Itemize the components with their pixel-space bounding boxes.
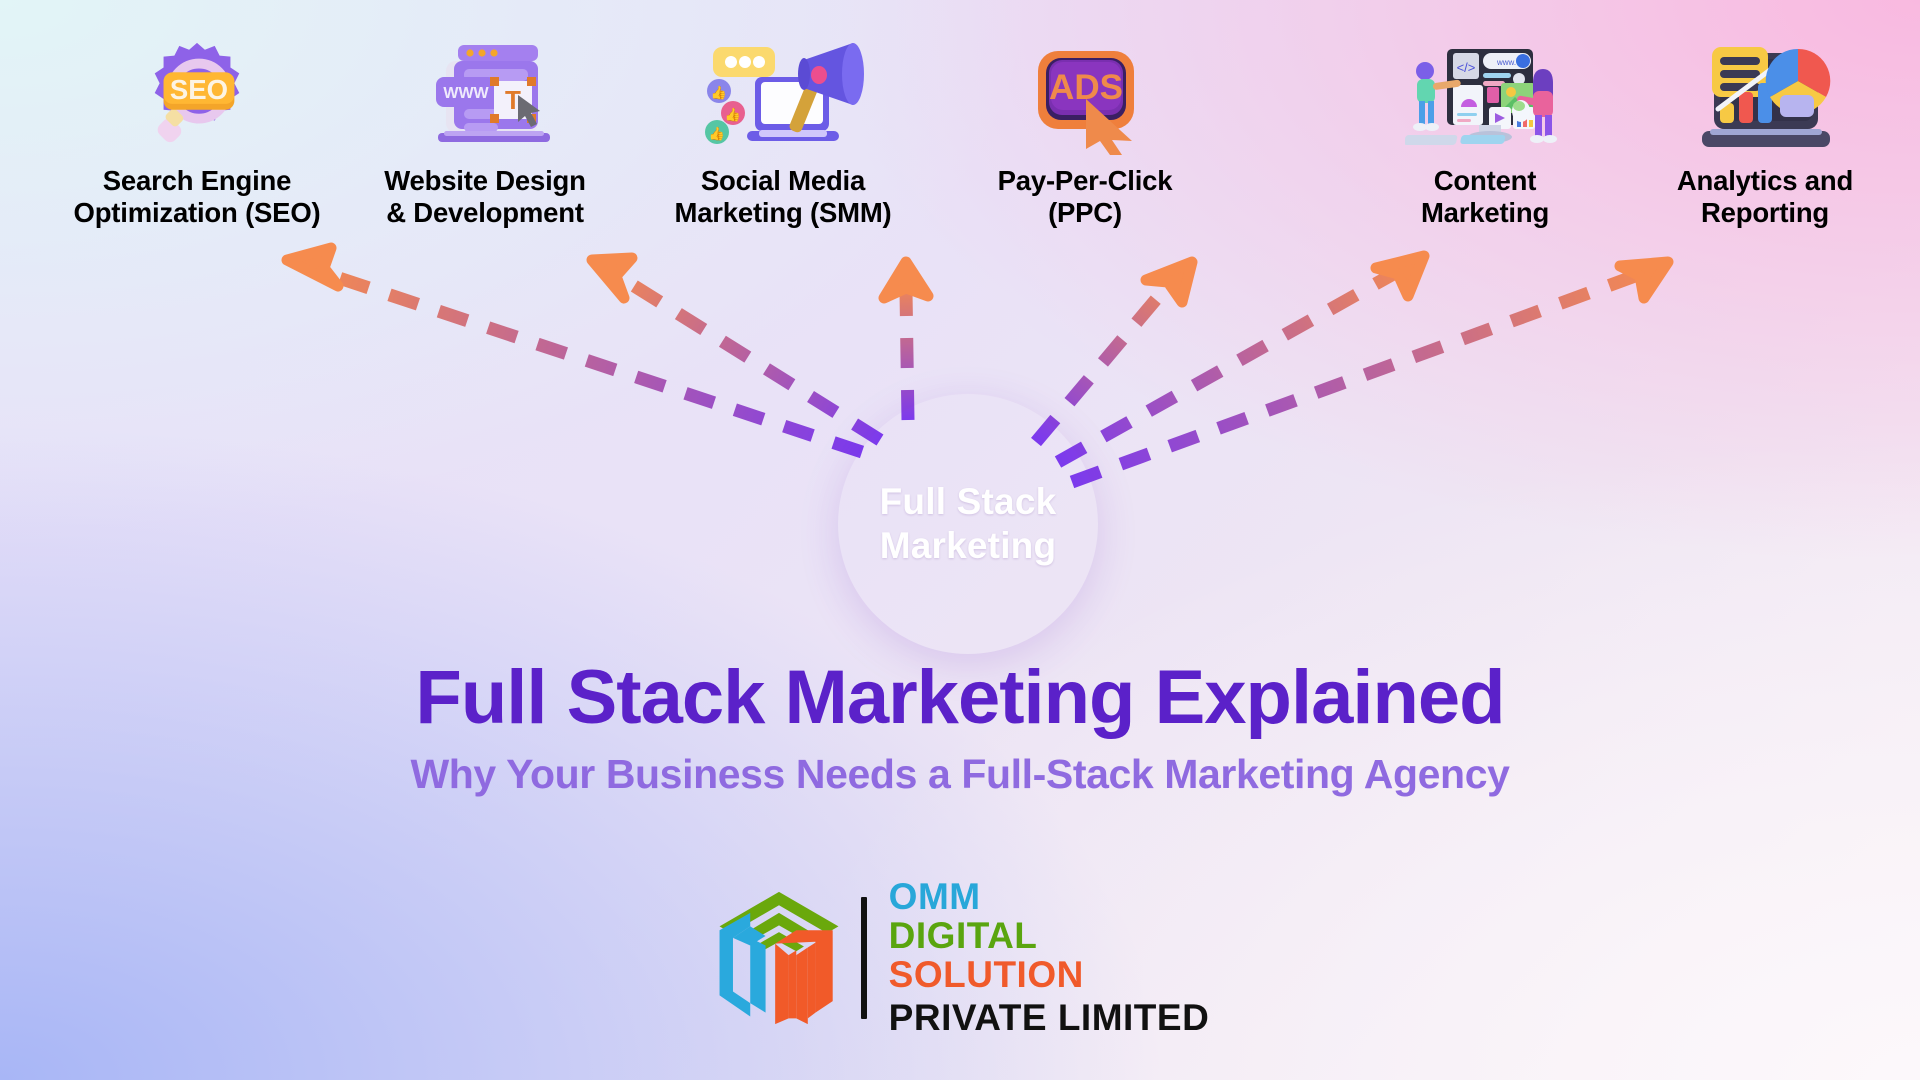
ads-cursor-icon: ADS: [960, 35, 1210, 155]
hub-circle-full-stack-marketing: Full Stack Marketing: [838, 394, 1098, 654]
laptop-www-design-icon: WWW T: [360, 35, 610, 155]
logo-word-digital: DIGITAL: [889, 917, 1210, 954]
label-line2: (PPC): [1048, 197, 1122, 228]
service-node-content-label: Content Marketing: [1360, 165, 1610, 230]
connector-to-web-design: [592, 258, 880, 440]
logo-wordmark: OMM DIGITAL SOLUTION PRIVATE LIMITED: [889, 878, 1210, 1038]
connector-to-ppc: [1036, 262, 1192, 442]
label-line2: Marketing (SMM): [674, 197, 891, 228]
svg-text:</>: </>: [1457, 60, 1476, 75]
laptop-charts-piechart-icon: [1640, 35, 1890, 155]
label-line1: Analytics and: [1677, 165, 1853, 196]
laptop-megaphone-likes-icon: 👍 👍 👍: [658, 35, 908, 155]
service-node-web-design[interactable]: WWW T Website Design & Development: [360, 35, 610, 230]
page-title: Full Stack Marketing Explained: [0, 660, 1920, 736]
svg-text:www.: www.: [1496, 58, 1516, 67]
service-node-smm[interactable]: 👍 👍 👍 Social Media Marketing (SMM): [658, 35, 908, 230]
label-line2: Marketing: [1421, 197, 1549, 228]
label-line2: Optimization (SEO): [74, 197, 321, 228]
content-creators-monitor-icon: </> www.: [1360, 35, 1610, 155]
company-logo-block: OMM DIGITAL SOLUTION PRIVATE LIMITED: [0, 878, 1920, 1038]
headline-block: Full Stack Marketing Explained Why Your …: [0, 660, 1920, 795]
svg-text:WWW: WWW: [443, 85, 489, 102]
connector-to-smm: [884, 262, 928, 420]
service-node-ppc[interactable]: ADS Pay-Per-Click (PPC): [960, 35, 1210, 230]
svg-text:👍: 👍: [710, 85, 726, 100]
connector-to-content: [1058, 256, 1424, 462]
svg-text:👍: 👍: [724, 107, 740, 122]
connector-to-seo: [287, 248, 862, 452]
label-line1: Search Engine: [103, 165, 291, 196]
seo-badge-magnifier-icon: SEO: [72, 35, 322, 155]
logo-word-private-limited: PRIVATE LIMITED: [889, 999, 1210, 1036]
service-node-smm-label: Social Media Marketing (SMM): [658, 165, 908, 230]
page-subtitle: Why Your Business Needs a Full-Stack Mar…: [0, 754, 1920, 795]
service-node-web-design-label: Website Design & Development: [360, 165, 610, 230]
service-node-analytics[interactable]: Analytics and Reporting: [1640, 35, 1890, 230]
hub-label: Full Stack Marketing: [880, 480, 1057, 567]
service-node-analytics-label: Analytics and Reporting: [1640, 165, 1890, 230]
infographic-canvas: Full Stack Marketing SEO Search Engine O…: [0, 0, 1920, 1080]
label-line2: & Development: [386, 197, 584, 228]
label-line1: Pay-Per-Click: [998, 165, 1173, 196]
svg-text:SEO: SEO: [170, 74, 228, 105]
label-line1: Social Media: [701, 165, 865, 196]
omm-cube-logo-icon: [711, 888, 847, 1028]
label-line1: Content: [1434, 165, 1536, 196]
logo-word-omm: OMM: [889, 878, 1210, 915]
svg-text:👍: 👍: [708, 126, 724, 141]
service-node-content[interactable]: </> www.: [1360, 35, 1610, 230]
service-node-ppc-label: Pay-Per-Click (PPC): [960, 165, 1210, 230]
logo-divider: [861, 897, 867, 1019]
logo-word-solution: SOLUTION: [889, 956, 1210, 993]
hub-label-line2: Marketing: [880, 525, 1057, 566]
service-node-seo[interactable]: SEO Search Engine Optimization (SEO): [72, 35, 322, 230]
label-line1: Website Design: [384, 165, 585, 196]
hub-label-line1: Full Stack: [880, 481, 1057, 522]
label-line2: Reporting: [1701, 197, 1829, 228]
service-node-seo-label: Search Engine Optimization (SEO): [72, 165, 322, 230]
connector-to-analytics: [1072, 262, 1668, 482]
